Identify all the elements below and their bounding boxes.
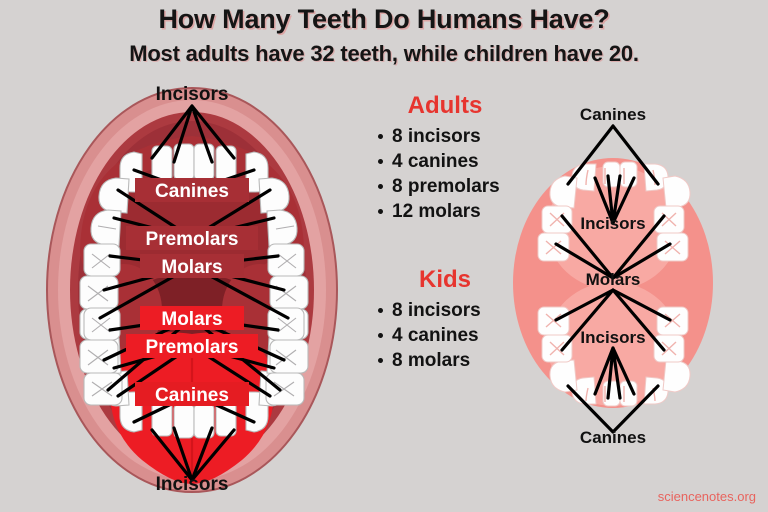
list-item: 8 premolars: [392, 174, 520, 199]
adult-label-incisors-bottom: Incisors: [156, 474, 229, 495]
child-label-incisors-bottom: Incisors: [580, 328, 645, 347]
adult-label-molars-top: Molars: [161, 257, 222, 278]
child-label-canines-bottom: Canines: [580, 428, 646, 447]
list-item: 8 molars: [392, 348, 520, 373]
adult-label-premolars-bottom: Premolars: [146, 337, 239, 358]
adults-group: Adults 8 incisors 4 canines 8 premolars …: [370, 92, 520, 224]
tooth-molar: [266, 373, 304, 405]
list-item: 12 molars: [392, 199, 520, 224]
tooth-molar: [84, 373, 122, 405]
tooth-canine: [663, 176, 690, 208]
tooth-incisor: [152, 146, 172, 181]
adult-label-incisors-top: Incisors: [156, 84, 229, 105]
child-mouth-diagram: Canines Incisors Molars Incisors Canines: [498, 98, 728, 458]
adult-label-molars-bottom: Molars: [161, 309, 222, 330]
page-subtitle: Most adults have 32 teeth, while childre…: [0, 41, 768, 67]
tooth-premolar: [91, 210, 121, 246]
tooth-incisor: [620, 162, 637, 187]
list-item: 8 incisors: [392, 124, 520, 149]
tooth-canine: [663, 360, 690, 392]
list-item: 8 incisors: [392, 298, 520, 323]
adult-label-premolars-top: Premolars: [146, 229, 239, 250]
tooth-molar: [270, 276, 308, 309]
list-item: 4 canines: [392, 149, 520, 174]
watermark: sciencenotes.org: [658, 489, 756, 504]
kids-heading: Kids: [370, 266, 520, 294]
list-item: 4 canines: [392, 323, 520, 348]
child-label-canines-top: Canines: [580, 105, 646, 124]
kids-list: 8 incisors 4 canines 8 molars: [370, 298, 520, 373]
tooth-canine: [550, 176, 577, 208]
child-label-molars-center: Molars: [586, 270, 641, 289]
page-title: How Many Teeth Do Humans Have?: [0, 4, 768, 35]
adult-label-canines-top: Canines: [155, 181, 229, 202]
kids-group: Kids 8 incisors 4 canines 8 molars: [370, 266, 520, 373]
child-label-incisors-top: Incisors: [580, 214, 645, 233]
adult-label-canines-bottom: Canines: [155, 385, 229, 406]
adult-mouth-diagram: Incisors Canines Premolars Molars Molars…: [22, 78, 362, 498]
adults-list: 8 incisors 4 canines 8 premolars 12 mola…: [370, 124, 520, 224]
tooth-canine: [550, 360, 577, 392]
infographic-canvas: How Many Teeth Do Humans Have? Most adul…: [0, 0, 768, 512]
adults-heading: Adults: [370, 92, 520, 120]
